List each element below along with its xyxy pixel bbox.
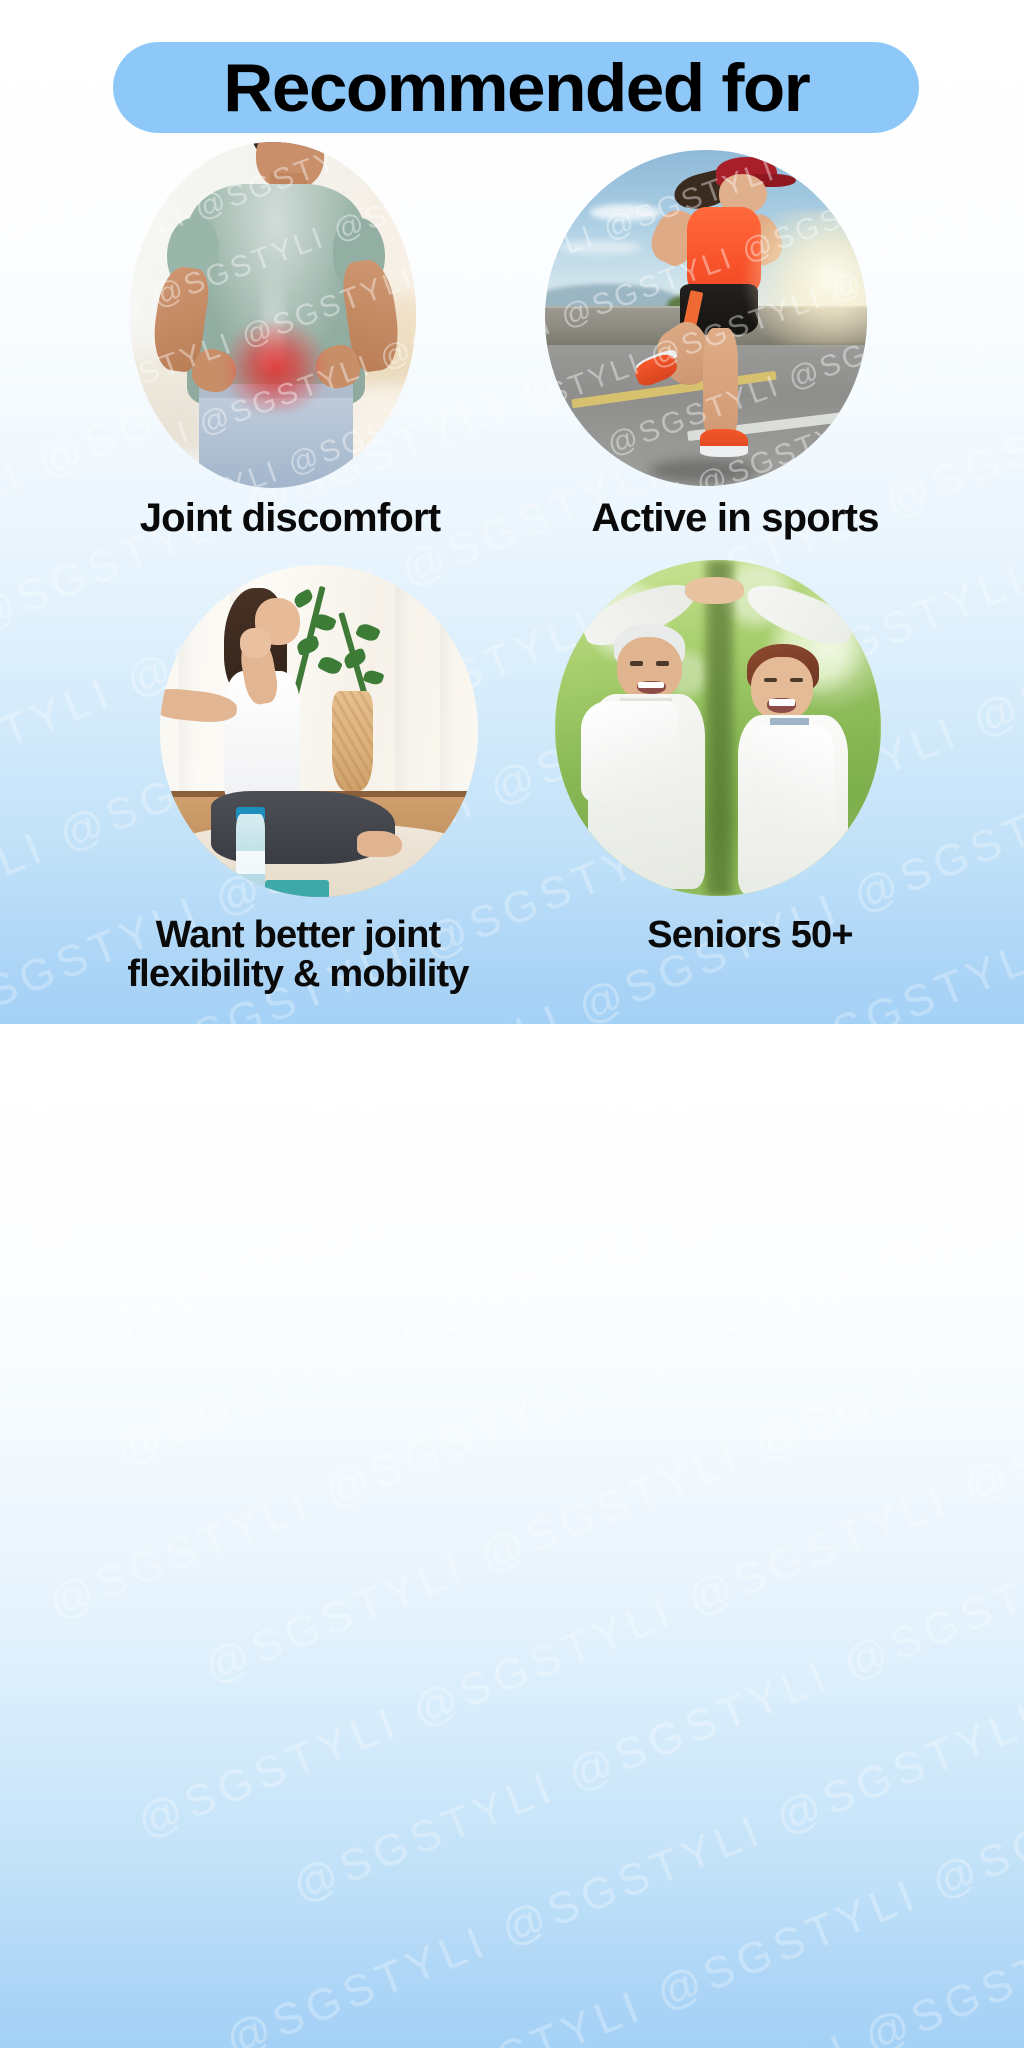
watermark-row: @SGSTYLI @SGSTYLI @SGSTYLI @SGSTYLI @SGS… bbox=[42, 1001, 1024, 1629]
man-with-lower-back-pain-image: @SGSTYLI @SGSTYLI @SGSTYLI @SGSTYLI @SGS… bbox=[130, 142, 416, 488]
page-title: Recommended for bbox=[223, 54, 809, 122]
card-caption: Seniors 50+ bbox=[560, 916, 940, 955]
woman-running-on-road-image: @SGSTYLI @SGSTYLI @SGSTYLI @SGSTYLI @SGS… bbox=[545, 150, 867, 486]
watermark-row: @SGSTYLI @SGSTYLI @SGSTYLI @SGSTYLI @SGS… bbox=[286, 1329, 1024, 1912]
header-pill: Recommended for bbox=[113, 42, 919, 133]
watermark-row: @SGSTYLI @SGSTYLI @SGSTYLI @SGSTYLI @SGS… bbox=[396, 1876, 1024, 2048]
watermark-row: @SGSTYLI @SGSTYLI @SGSTYLI @SGSTYLI @SGS… bbox=[375, 1548, 1024, 2048]
card-caption-line-1: Want better joint bbox=[156, 914, 441, 956]
watermark-row: @SGSTYLI @SGSTYLI @SGSTYLI @SGSTYLI @SGS… bbox=[131, 1220, 1024, 1848]
senior-couple-stretching-image bbox=[555, 560, 881, 896]
card-caption: Active in sports bbox=[520, 498, 950, 539]
recommendation-grid: @SGSTYLI @SGSTYLI @SGSTYLI @SGSTYLI @SGS… bbox=[0, 0, 1024, 1024]
watermark-row: @SGSTYLI @SGSTYLI @SGSTYLI @SGSTYLI @SGS… bbox=[219, 1439, 1024, 2048]
card-caption-line-2: flexibility & mobility bbox=[127, 953, 468, 995]
card-caption: Want better joint flexibility & mobility bbox=[78, 916, 518, 994]
watermark-row: @SGSTYLI @SGSTYLI @SGSTYLI @SGSTYLI @SGS… bbox=[463, 1767, 1024, 2048]
watermark-row: @SGSTYLI @SGSTYLI @SGSTYLI @SGSTYLI @SGS… bbox=[198, 1111, 1024, 1694]
watermark-row: @SGSTYLI @SGSTYLI @SGSTYLI @SGSTYLI @SGS… bbox=[307, 1658, 1024, 2048]
card-caption: Joint discomfort bbox=[60, 498, 520, 539]
woman-stretching-at-home-image bbox=[160, 565, 478, 897]
